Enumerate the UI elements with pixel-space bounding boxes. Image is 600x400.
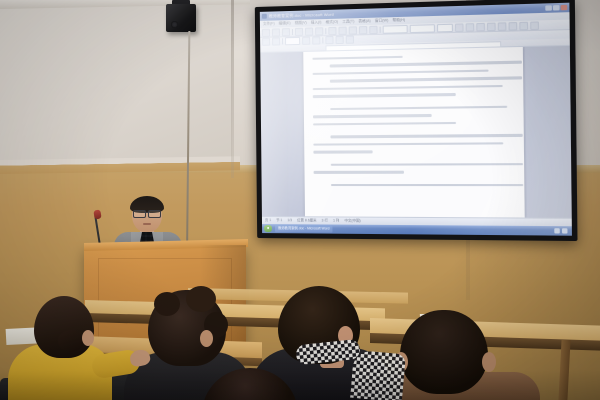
audience-4-head [400,310,488,394]
glasses-lens-right [148,210,161,218]
indent-decrease-icon[interactable] [325,36,333,44]
print-preview-icon[interactable] [305,27,313,35]
drawing-icon[interactable] [262,38,270,46]
taskbar-item-word[interactable]: 教师教育案例.doc - Microsoft Word [275,225,333,233]
start-button[interactable]: ■ [264,225,272,232]
bullet-list-icon[interactable] [519,21,528,30]
align-left-icon[interactable] [487,22,496,31]
highlight-icon[interactable] [302,37,310,45]
menu-item-table[interactable]: 表格(A) [358,20,370,24]
underline-icon[interactable] [476,22,485,31]
cut-icon[interactable] [328,26,336,34]
status-page: 页 1 [265,219,271,222]
menu-item-tools[interactable]: 工具(T) [342,20,354,24]
minimize-icon[interactable] [545,5,552,10]
save-icon[interactable] [282,28,290,36]
document-text-line [331,163,523,166]
audience-1-hair-bun [58,330,84,352]
document-text-line [314,171,405,174]
italic-icon[interactable] [466,23,475,32]
menu-item-file[interactable]: 文件(F) [263,22,275,26]
status-language: 中文(中国) [344,219,360,223]
document-text-line [313,142,504,146]
wall-seam [231,0,234,178]
table-icon[interactable] [272,37,280,45]
open-icon[interactable] [272,28,280,36]
word-document-icon [262,14,267,19]
document-text-line [313,85,504,91]
redo-icon[interactable] [369,25,377,33]
audience-2-hair-curl [154,292,180,316]
microphone-icon [93,210,101,220]
paste-icon[interactable] [349,26,357,34]
document-text-line [330,77,522,83]
font-size-selector[interactable] [437,23,453,32]
align-right-icon[interactable] [508,21,517,30]
document-left-margin-pane [260,52,288,216]
maximize-icon[interactable] [553,5,560,10]
bold-icon[interactable] [455,23,464,32]
audience-1-ear [82,330,94,346]
toolbar-separator [322,37,323,43]
projection-surface: 教师教育案例.doc - Microsoft Word 文件(F) 编辑(E) … [260,3,572,236]
undo-icon[interactable] [359,26,367,34]
document-page[interactable] [303,47,525,218]
audience-3-patterned-sleeve [350,350,406,400]
status-position: 位置 8.6厘米 [297,219,316,223]
close-icon[interactable] [561,5,568,10]
toolbar-separator [325,28,326,34]
audience-4-ear-right [482,352,496,372]
document-text-line [312,56,403,60]
document-text-line [313,114,432,118]
loudspeaker-icon [166,4,196,32]
word-title-text: 教师教育案例.doc - Microsoft Word [269,12,334,18]
document-right-pane [525,46,572,218]
status-line: 3 行 [322,219,328,222]
windows-taskbar[interactable]: ■ 教师教育案例.doc - Microsoft Word [262,224,572,236]
word-document-area[interactable] [260,46,572,218]
document-text-line [313,93,456,98]
menu-item-view[interactable]: 视图(V) [295,21,307,25]
print-icon[interactable] [295,27,303,35]
align-center-icon[interactable] [498,22,507,31]
document-text-line [331,184,523,187]
tray-volume-icon[interactable] [554,228,560,233]
font-color-icon[interactable] [312,36,320,44]
toolbar-separator [282,38,283,44]
word-window[interactable]: 教师教育案例.doc - Microsoft Word 文件(F) 编辑(E) … [260,3,572,236]
audience-2-hair-curl [186,286,216,312]
document-text-line [331,134,523,138]
spellcheck-icon[interactable] [315,27,323,35]
menu-item-format[interactable]: 格式(O) [326,20,339,24]
toolbar-separator [380,26,381,32]
indent-increase-icon[interactable] [336,36,344,44]
presenter-mouth [143,223,151,225]
numbered-list-icon[interactable] [530,21,539,30]
document-text-line [313,122,456,126]
font-name-selector[interactable] [410,24,435,33]
projection-screen[interactable]: 教师教育案例.doc - Microsoft Word 文件(F) 编辑(E) … [255,0,578,241]
audience-2-ear [200,330,213,347]
new-document-icon[interactable] [262,28,270,36]
system-tray[interactable] [554,228,569,233]
document-text-line [330,61,522,67]
upper-wall-left-panel [0,0,232,172]
status-pages: 1/3 [287,219,292,222]
toolbar-separator [292,29,293,35]
status-column: 1 列 [333,219,339,222]
copy-icon[interactable] [338,26,346,34]
status-section: 节 1 [276,219,282,222]
menu-item-window[interactable]: 窗口(W) [375,19,388,23]
document-text-line [313,151,372,154]
menu-item-insert[interactable]: 插入(I) [311,21,322,25]
menu-item-edit[interactable]: 编辑(E) [279,22,291,26]
document-text-line [312,70,488,76]
glasses-icon [133,210,161,216]
border-icon[interactable] [346,36,354,44]
style-selector[interactable] [383,24,408,33]
tray-network-icon[interactable] [562,228,568,233]
lecture-hall-photo: 教师教育案例.doc - Microsoft Word 文件(F) 编辑(E) … [0,0,600,400]
menu-item-help[interactable]: 帮助(H) [392,19,405,23]
